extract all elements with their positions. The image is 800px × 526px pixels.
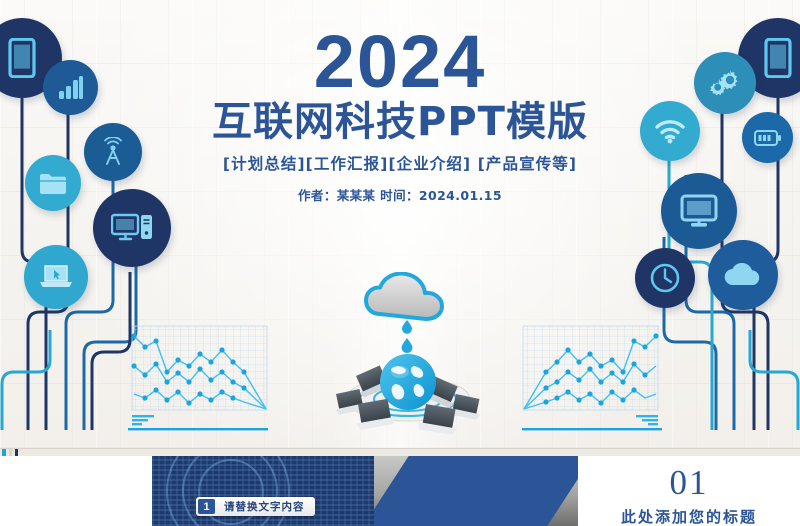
cloud-computing-illustration [322, 272, 494, 440]
slide-canvas: 2024 互联网科技PPT模版 [计划总结][工作汇报][企业介绍] [产品宣传… [0, 0, 800, 526]
slide-thumbnail-2[interactable] [374, 455, 578, 526]
subtitle-tags: [计划总结][工作汇报][企业介绍] [产品宣传等] [0, 152, 800, 174]
divider-tick-gray [9, 449, 12, 456]
decorative-line-chart-left [128, 322, 278, 432]
badge-text: 请替换文字内容 [224, 499, 305, 514]
divider-tick-cyan [2, 449, 6, 456]
slide-thumbnail-1[interactable]: 1 请替换文字内容 [152, 455, 374, 526]
author-line: 作者：某某某 时间：2024.01.15 [0, 185, 800, 204]
page-title: 互联网科技PPT模版 [0, 101, 800, 143]
section-caption: 此处添加您的标题 [578, 506, 800, 526]
clock-icon [635, 248, 695, 308]
title-block: 2024 互联网科技PPT模版 [计划总结][工作汇报][企业介绍] [产品宣传… [0, 26, 800, 204]
year-heading: 2024 [0, 26, 800, 97]
decorative-line-chart-right [512, 322, 662, 432]
laptop-icon [24, 245, 88, 309]
blue-parallelogram [374, 455, 578, 526]
section-number: 01 [578, 465, 800, 500]
badge-number: 1 [198, 499, 215, 514]
section-heading-01: 01 此处添加您的标题 [578, 455, 800, 526]
cloud-icon [708, 240, 778, 310]
thumbnail-caption-badge[interactable]: 1 请替换文字内容 [196, 497, 315, 516]
divider-tick-navy [15, 449, 18, 456]
